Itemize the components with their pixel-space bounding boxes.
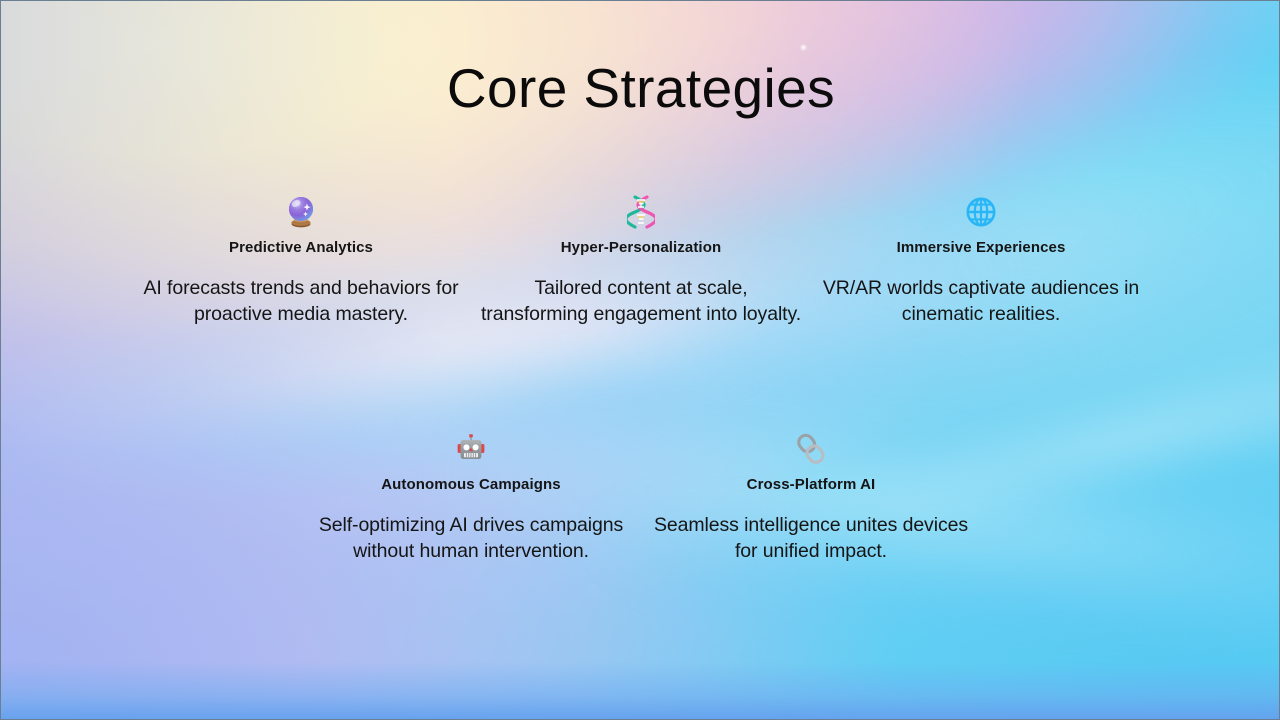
strategy-card-immersive-experiences[interactable]: Immersive Experiences VR/AR worlds capti… bbox=[811, 189, 1151, 328]
strategy-card-body: Tailored content at scale, transforming … bbox=[479, 275, 803, 328]
strategy-card-cross-platform-ai[interactable]: Cross-Platform AI Seamless intelligence … bbox=[641, 426, 981, 565]
strategy-card-title: Cross-Platform AI bbox=[649, 476, 973, 493]
robot-icon bbox=[309, 426, 633, 468]
dna-helix-icon bbox=[479, 189, 803, 231]
strategy-card-autonomous-campaigns[interactable]: Autonomous Campaigns Self-optimizing AI … bbox=[301, 426, 641, 565]
globe-with-meridians-icon bbox=[819, 189, 1143, 231]
strategy-card-body: VR/AR worlds captivate audiences in cine… bbox=[819, 275, 1143, 328]
strategy-card-title: Immersive Experiences bbox=[819, 239, 1143, 256]
crystal-ball-icon bbox=[139, 189, 463, 231]
strategy-row-top: Predictive Analytics AI forecasts trends… bbox=[1, 189, 1280, 328]
strategy-row-bottom: Autonomous Campaigns Self-optimizing AI … bbox=[1, 426, 1280, 565]
presentation-slide: Core Strategies bbox=[0, 0, 1280, 720]
strategy-card-body: Seamless intelligence unites devices for… bbox=[649, 512, 973, 565]
strategy-card-hyper-personalization[interactable]: Hyper-Personalization Tailored content a… bbox=[471, 189, 811, 328]
link-chain-icon bbox=[649, 426, 973, 468]
page-title: Core Strategies bbox=[1, 57, 1280, 121]
strategy-card-predictive-analytics[interactable]: Predictive Analytics AI forecasts trends… bbox=[131, 189, 471, 328]
strategy-card-title: Predictive Analytics bbox=[139, 239, 463, 256]
strategy-card-body: AI forecasts trends and behaviors for pr… bbox=[139, 275, 463, 328]
strategy-card-title: Autonomous Campaigns bbox=[309, 476, 633, 493]
strategy-card-body: Self-optimizing AI drives campaigns with… bbox=[309, 512, 633, 565]
strategy-card-title: Hyper-Personalization bbox=[479, 239, 803, 256]
